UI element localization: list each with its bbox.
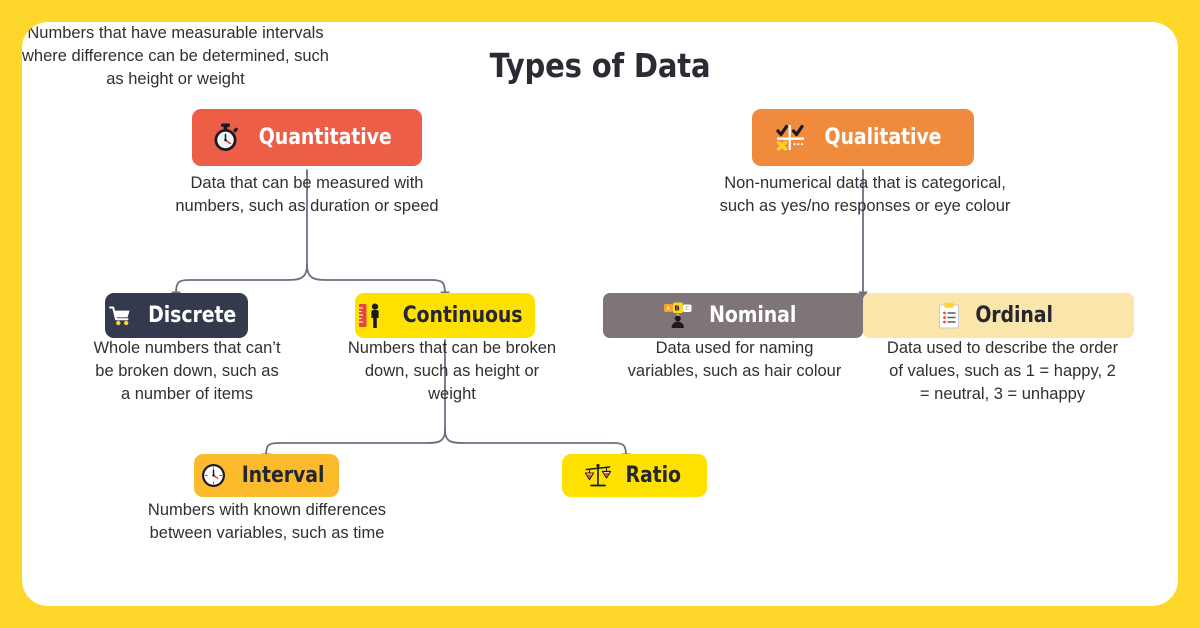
node-label: Interval (242, 465, 325, 487)
description-interval: Numbers with known differences between v… (117, 499, 417, 545)
clipboard-list-icon (938, 302, 960, 329)
shopping-cart-icon (109, 305, 132, 326)
node-label: Ordinal (975, 305, 1053, 327)
description-continuous: Numbers that can be broken down, such as… (322, 337, 582, 406)
node-label: Qualitative (824, 127, 941, 149)
node-continuous[interactable]: Continuous (355, 293, 535, 338)
ruler-person-icon (358, 302, 384, 329)
node-ratio[interactable]: Ratio (562, 454, 707, 497)
description-ratio: Numbers that have measurable intervals w… (22, 22, 329, 91)
description-qualitative: Non-numerical data that is categorical, … (690, 172, 1040, 218)
node-label: Discrete (148, 305, 236, 327)
svg-text:C: C (685, 306, 689, 312)
checklist-matrix-icon (776, 123, 806, 152)
node-label: Ratio (625, 465, 680, 487)
diagram-card: Types of Data Quantitative Data that can… (22, 22, 1178, 606)
node-label: Continuous (403, 305, 523, 327)
diagram-stage: Types of Data Quantitative Data that can… (22, 22, 1178, 606)
node-ordinal[interactable]: Ordinal (863, 293, 1134, 338)
name-tag-icon: B A C (663, 302, 693, 329)
description-nominal: Data used for naming variables, such as … (602, 337, 867, 383)
stopwatch-icon (212, 123, 239, 152)
node-label: Quantitative (259, 127, 392, 149)
svg-text:B: B (674, 304, 679, 312)
node-nominal[interactable]: B A C Nominal (603, 293, 863, 338)
node-qualitative[interactable]: Qualitative (752, 109, 974, 166)
balance-scale-icon (584, 463, 612, 489)
description-ordinal: Data used to describe the order of value… (865, 337, 1140, 406)
description-discrete: Whole numbers that can’t be broken down,… (42, 337, 332, 406)
node-quantitative[interactable]: Quantitative (192, 109, 422, 166)
clock-icon (201, 463, 226, 488)
node-interval[interactable]: Interval (194, 454, 339, 497)
description-quantitative: Data that can be measured with numbers, … (147, 172, 467, 218)
node-discrete[interactable]: Discrete (105, 293, 248, 338)
svg-text:A: A (666, 306, 670, 312)
node-label: Nominal (709, 305, 796, 327)
